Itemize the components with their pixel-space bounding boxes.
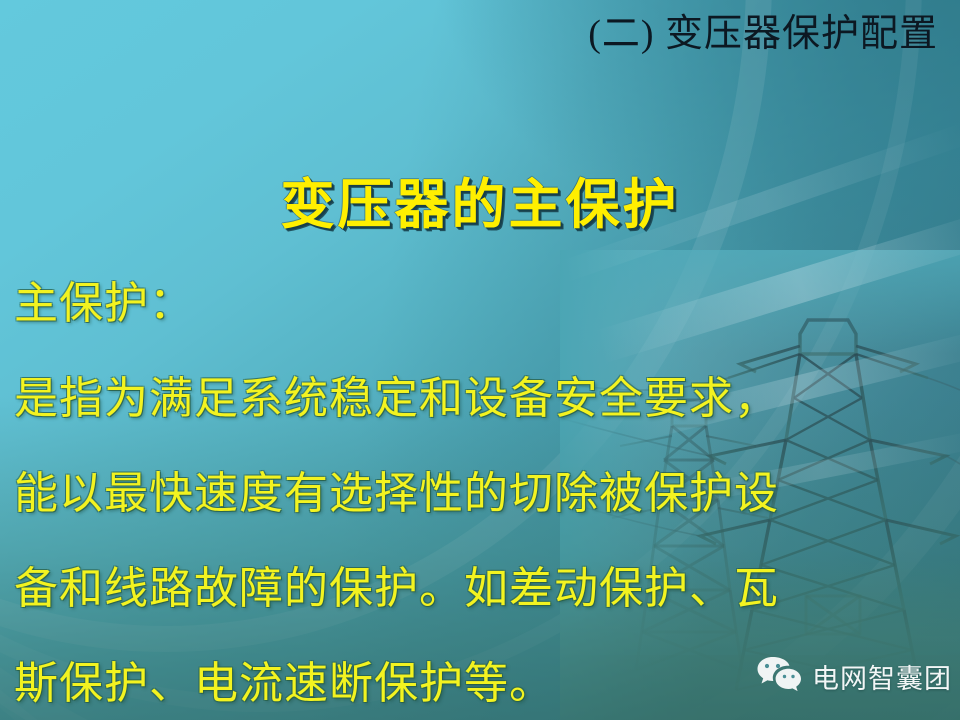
slide-title: 变压器的主保护 [0,160,960,239]
body-line-1: 主保护： [14,256,944,351]
watermark: 电网智囊团 [756,655,952,698]
body-line-4: 备和线路故障的保护。如差动保护、瓦 [14,541,944,636]
presentation-slide: (二) 变压器保护配置 变压器的主保护 主保护： 是指为满足系统稳定和设备安全要… [0,0,960,720]
body-line-3: 能以最快速度有选择性的切除被保护设 [14,446,944,541]
body-line-2: 是指为满足系统稳定和设备安全要求， [14,351,944,446]
watermark-label: 电网智囊团 [812,657,952,696]
slide-section-header: (二) 变压器保护配置 [0,14,938,56]
slide-body-text: 主保护： 是指为满足系统稳定和设备安全要求， 能以最快速度有选择性的切除被保护设… [14,256,944,720]
wechat-icon [756,655,802,698]
